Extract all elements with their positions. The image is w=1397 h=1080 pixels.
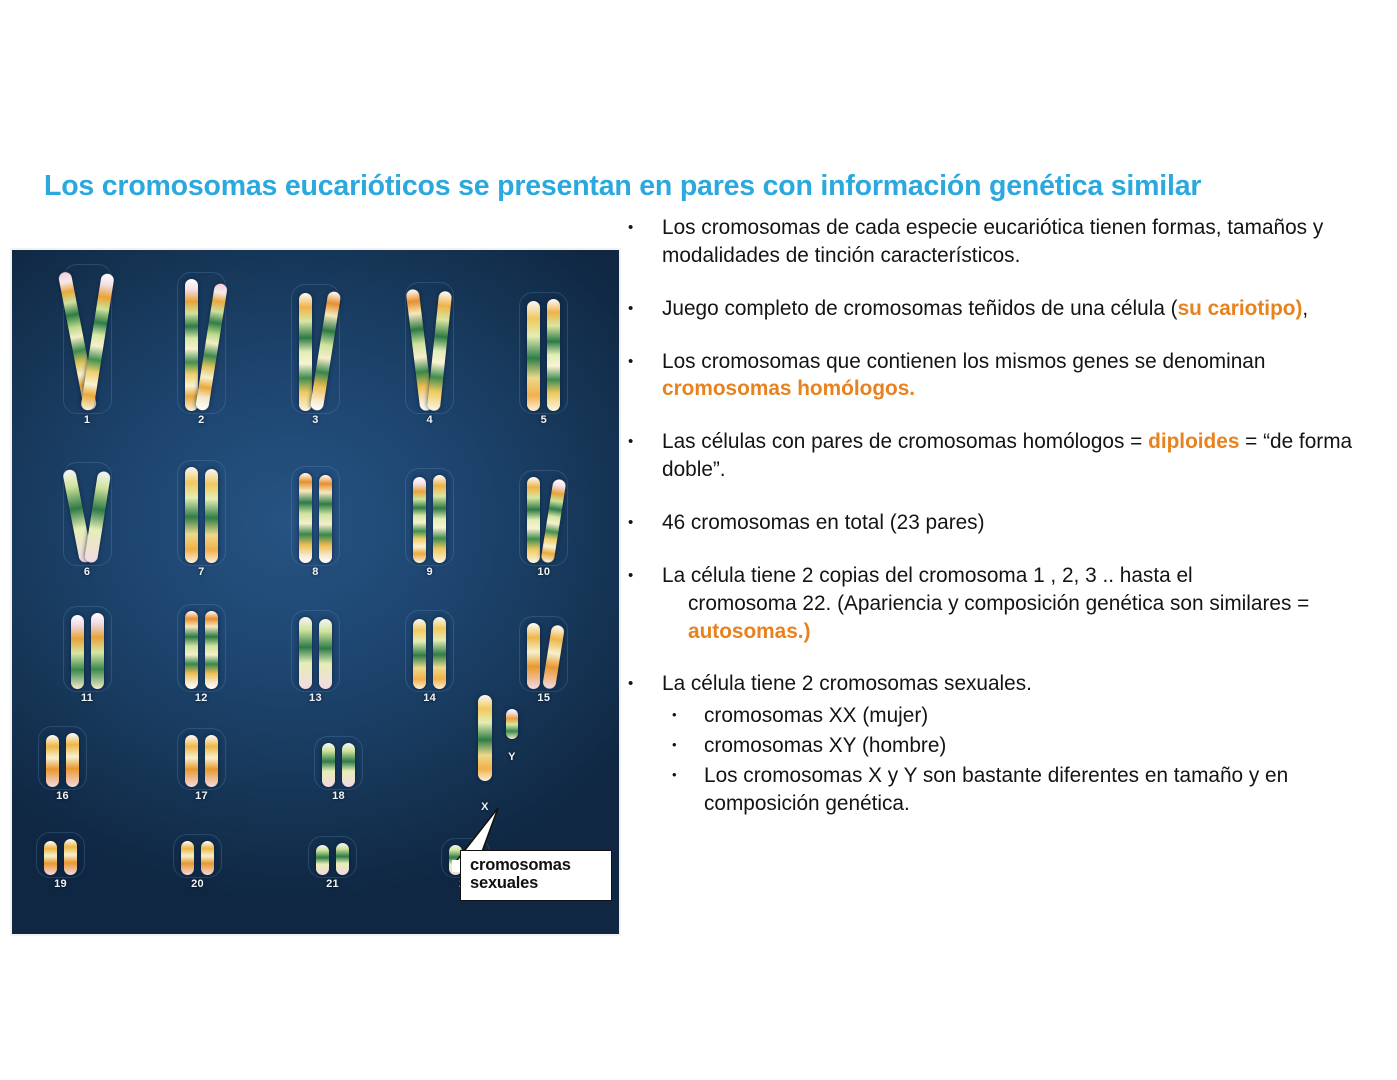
slide-root: Los cromosomas eucarióticos se presentan… — [0, 0, 1397, 1080]
bullet-item-4: • Las células con pares de cromosomas ho… — [628, 428, 1388, 484]
chromosome-body — [542, 624, 565, 689]
chromosome-pair — [71, 469, 104, 563]
bullet-marker-icon: • — [628, 348, 662, 404]
karyotype-figure: 1 2 3 — [10, 248, 621, 936]
chromosome-pair — [185, 467, 218, 563]
chromosome-pair — [185, 735, 218, 787]
bullet-text-4: Las células con pares de cromosomas homó… — [662, 428, 1388, 484]
chromosome-body — [506, 709, 518, 739]
bullet-list: • Los cromosomas de cada especie eucarió… — [628, 214, 1388, 820]
bullet-text-3: Los cromosomas que contienen los mismos … — [662, 348, 1388, 404]
chromosome-group-17: 17 — [185, 735, 218, 802]
bullet-item-3: • Los cromosomas que contienen los mismo… — [628, 348, 1388, 404]
chromosome-label: 1 — [84, 414, 90, 426]
chromosome-body — [322, 743, 335, 787]
chromosome-label: 19 — [54, 878, 67, 890]
chromosome-pair — [527, 299, 560, 411]
bullet-marker-icon: • — [628, 562, 662, 646]
chromosome-label: 9 — [426, 566, 432, 578]
bullet-marker-icon: • — [628, 214, 662, 270]
karyotype-row-4: 16 17 18 — [12, 702, 619, 802]
sub-bullet-text-2: cromosomas XY (hombre) — [704, 732, 1388, 760]
bullet-text-6: La célula tiene 2 copias del cromosoma 1… — [662, 562, 1388, 646]
chromosome-group-8: 8 — [299, 473, 332, 578]
chromosome-label: 10 — [537, 566, 550, 578]
bullet-marker-icon: • — [672, 762, 704, 818]
bullet-segment: Juego completo de cromosomas teñidos de … — [662, 297, 1178, 320]
karyotype-canvas: 1 2 3 — [12, 250, 619, 934]
bullet-segment: Las células con pares de cromosomas homó… — [662, 430, 1148, 453]
chromosome-label: 18 — [332, 790, 345, 802]
bullet-segment: La célula tiene 2 cromosomas sexuales. — [662, 672, 1032, 695]
chromosome-body — [205, 469, 218, 563]
bullet-segment-indented: cromosoma 22. (Apariencia y composición … — [662, 590, 1388, 618]
bullet-segment-highlight: su cariotipo) — [1178, 297, 1303, 320]
bullet-item-7: • La célula tiene 2 cromosomas sexuales. — [628, 670, 1388, 698]
chromosome-pair — [299, 473, 332, 563]
chromosome-group-20: 20 — [181, 841, 214, 890]
chromosome-pair — [71, 271, 104, 411]
chromosome-body — [319, 475, 332, 563]
chromosome-group-14: 14 — [413, 617, 446, 704]
page-title: Los cromosomas eucarióticos se presentan… — [44, 170, 1364, 203]
chromosome-body — [342, 743, 355, 787]
chromosome-group-9: 9 — [413, 475, 446, 578]
sub-bullet-item-3: • Los cromosomas X y Y son bastante dife… — [672, 762, 1388, 818]
bullet-text-2: Juego completo de cromosomas teñidos de … — [662, 295, 1388, 323]
chromosome-group-15: 15 — [527, 623, 560, 704]
chromosome-label: 7 — [198, 566, 204, 578]
chromosome-pair — [322, 743, 355, 787]
chromosome-body — [71, 615, 84, 689]
chromosome-pair — [413, 617, 446, 689]
chromosome-body — [181, 841, 194, 875]
y-chromosome: Y — [506, 695, 518, 763]
bullet-segment: 46 cromosomas en total (23 pares) — [662, 511, 985, 534]
sub-bullet-text-1: cromosomas XX (mujer) — [704, 702, 1388, 730]
chromosome-body — [541, 479, 567, 564]
sub-bullet-text-3: Los cromosomas X y Y son bastante difere… — [704, 762, 1388, 818]
chromosome-pair — [44, 839, 77, 875]
bullet-marker-icon: • — [628, 670, 662, 698]
chromosome-label: 5 — [541, 414, 547, 426]
chromosome-body — [91, 613, 104, 689]
chromosome-pair — [413, 475, 446, 563]
chromosome-body — [205, 611, 218, 689]
chromosome-body — [547, 299, 560, 411]
chromosome-label: 4 — [426, 414, 432, 426]
karyotype-row-1: 1 2 3 — [12, 266, 619, 426]
chromosome-body — [83, 471, 110, 564]
chromosome-group-16: 16 — [46, 733, 79, 802]
chromosome-pair — [527, 623, 560, 689]
chromosome-body — [433, 475, 446, 563]
chromosome-body — [316, 845, 329, 875]
bullet-text-5: 46 cromosomas en total (23 pares) — [662, 509, 1388, 537]
chromosome-pair — [413, 289, 446, 411]
chromosome-group-4: 4 — [413, 289, 446, 426]
chromosome-group-3: 3 — [299, 291, 332, 426]
chromosome-pair — [527, 477, 560, 563]
chromosome-pair — [71, 613, 104, 689]
chromosome-label: 20 — [191, 878, 204, 890]
chromosome-label: 17 — [195, 790, 208, 802]
chromosome-group-21: 21 — [316, 843, 349, 890]
bullet-marker-icon: • — [672, 702, 704, 730]
chromosome-pair — [46, 733, 79, 787]
chromosome-group-7: 7 — [185, 467, 218, 578]
bullet-item-2: • Juego completo de cromosomas teñidos d… — [628, 295, 1388, 323]
chromosome-group-13: 13 — [299, 617, 332, 704]
bullet-marker-icon: • — [628, 509, 662, 537]
chromosome-group-5: 5 — [527, 299, 560, 426]
karyotype-row-3: 11 12 13 — [12, 594, 619, 704]
bullet-marker-icon: • — [672, 732, 704, 760]
bullet-segment-highlight: autosomas.) — [662, 618, 1388, 646]
chromosome-label: 8 — [312, 566, 318, 578]
chromosome-label: 21 — [326, 878, 339, 890]
chromosome-body — [299, 473, 312, 563]
chromosome-body — [64, 839, 77, 875]
chromosome-body — [527, 301, 540, 411]
bullet-text-7: La célula tiene 2 cromosomas sexuales. — [662, 670, 1388, 698]
chromosome-body — [413, 477, 426, 563]
sub-bullet-item-2: • cromosomas XY (hombre) — [672, 732, 1388, 760]
chromosome-body — [185, 735, 198, 787]
bullet-item-1: • Los cromosomas de cada especie eucarió… — [628, 214, 1388, 270]
chromosome-body — [299, 617, 312, 689]
chromosome-body — [319, 619, 332, 689]
sex-chromosome-group: X Y — [478, 695, 518, 813]
chromosome-body — [478, 695, 492, 781]
bullet-segment-highlight: cromosomas homólogos. — [662, 377, 915, 400]
chromosome-body — [201, 841, 214, 875]
bullet-marker-icon: • — [628, 295, 662, 323]
y-chromosome-label: Y — [506, 751, 518, 763]
sex-chromosomes-callout: cromosomas sexuales — [460, 850, 612, 901]
chromosome-pair — [299, 617, 332, 689]
bullet-item-6: • La célula tiene 2 copias del cromosoma… — [628, 562, 1388, 646]
chromosome-body — [185, 279, 198, 411]
chromosome-body — [185, 611, 198, 689]
sub-bullet-list: • cromosomas XX (mujer) • cromosomas XY … — [628, 702, 1388, 817]
chromosome-label: 2 — [198, 414, 204, 426]
chromosome-label: 16 — [56, 790, 69, 802]
chromosome-group-2: 2 — [185, 279, 218, 426]
chromosome-label: 6 — [84, 566, 90, 578]
chromosome-body — [46, 735, 59, 787]
chromosome-body — [413, 619, 426, 689]
x-chromosome: X — [478, 695, 492, 813]
chromosome-body — [527, 623, 540, 689]
chromosome-group-10: 10 — [527, 477, 560, 578]
bullet-segment-highlight: diploides — [1148, 430, 1239, 453]
chromosome-pair — [316, 843, 349, 875]
chromosome-body — [433, 617, 446, 689]
chromosome-body — [336, 843, 349, 875]
chromosome-body — [66, 733, 79, 787]
chromosome-group-6: 6 — [71, 469, 104, 578]
chromosome-group-1: 1 — [71, 271, 104, 426]
chromosome-group-12: 12 — [185, 611, 218, 704]
chromosome-body — [310, 291, 342, 412]
chromosome-group-18: 18 — [322, 743, 355, 802]
bullet-segment: Los cromosomas de cada especie eucarióti… — [662, 216, 1323, 267]
sex-chromosome-pair: X Y — [478, 695, 518, 813]
chromosome-pair — [185, 611, 218, 689]
chromosome-body — [427, 291, 452, 412]
bullet-segment: , — [1302, 297, 1308, 320]
chromosome-body — [527, 477, 540, 563]
chromosome-body — [185, 467, 198, 563]
bullet-text-1: Los cromosomas de cada especie eucarióti… — [662, 214, 1388, 270]
chromosome-label: 3 — [312, 414, 318, 426]
karyotype-row-2: 6 7 8 — [12, 458, 619, 578]
chromosome-body — [80, 273, 114, 411]
chromosome-group-11: 11 — [71, 613, 104, 704]
chromosome-body — [299, 293, 312, 411]
bullet-marker-icon: • — [628, 428, 662, 484]
chromosome-pair — [299, 291, 332, 411]
chromosome-group-19: 19 — [44, 839, 77, 890]
chromosome-pair — [185, 279, 218, 411]
bullet-segment: Los cromosomas que contienen los mismos … — [662, 350, 1265, 373]
chromosome-pair — [181, 841, 214, 875]
bullet-item-5: • 46 cromosomas en total (23 pares) — [628, 509, 1388, 537]
chromosome-body — [44, 841, 57, 875]
chromosome-body — [195, 283, 228, 411]
chromosome-body — [205, 735, 218, 787]
bullet-segment: La célula tiene 2 copias del cromosoma 1… — [662, 564, 1193, 587]
sub-bullet-item-1: • cromosomas XX (mujer) — [672, 702, 1388, 730]
